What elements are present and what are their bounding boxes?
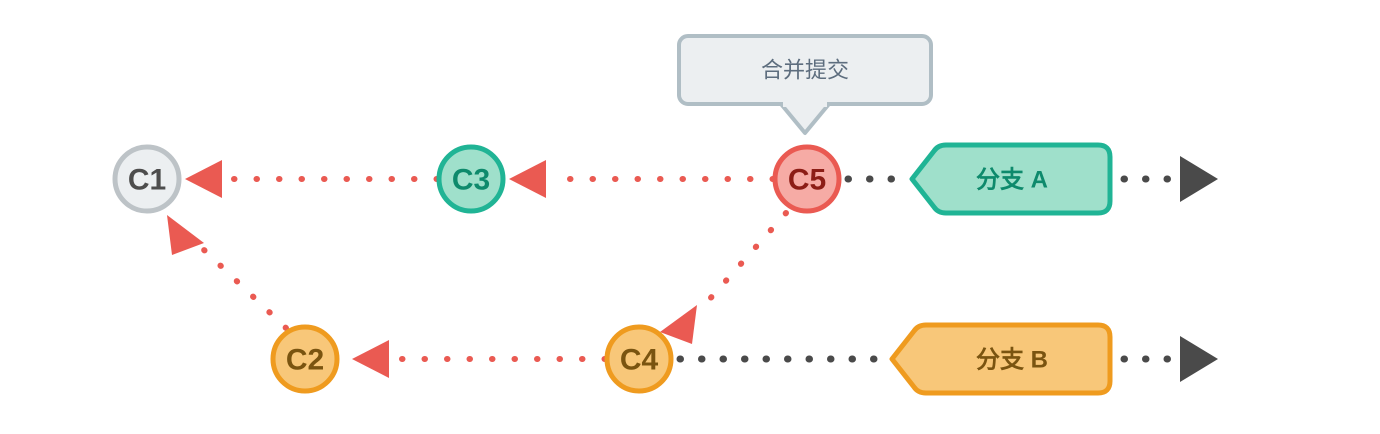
edge-c3-to-c1 — [185, 160, 437, 198]
commit-node-c2-label: C2 — [286, 344, 324, 377]
merge-commit-tooltip: 合并提交 — [679, 36, 931, 133]
branch-tag-a-label: 分支 A — [976, 167, 1048, 194]
commit-node-c3[interactable]: C3 — [439, 147, 503, 211]
head-arrow-a-icon — [1180, 156, 1218, 202]
branch-tag-b[interactable]: 分支 B — [892, 325, 1110, 393]
commit-node-c4-label: C4 — [620, 344, 659, 377]
edge-c2-to-c1-line — [202, 248, 286, 328]
edge-c2-to-c1 — [167, 215, 286, 328]
branch-tag-b-label: 分支 B — [976, 347, 1048, 374]
head-arrow-b-icon — [1180, 336, 1218, 382]
edge-c3-to-c1-arrowhead — [185, 160, 222, 198]
tooltip-tail-mask — [783, 98, 827, 107]
edge-c5-to-c4-line — [700, 213, 786, 310]
git-branch-diagram: 合并提交 分支 A 分支 B C1 C3 C5 C — [0, 0, 1380, 434]
commit-node-c2[interactable]: C2 — [273, 327, 337, 391]
tooltip-tail — [781, 104, 829, 133]
edge-c2-to-c1-arrowhead — [167, 215, 204, 255]
edge-c5-to-c4 — [660, 213, 786, 344]
edge-c4-to-c2 — [352, 340, 605, 378]
tooltip-text: 合并提交 — [761, 58, 849, 83]
commit-node-c1[interactable]: C1 — [115, 147, 179, 211]
commit-node-c3-label: C3 — [452, 164, 490, 197]
edge-c5-to-c3-arrowhead — [509, 160, 546, 198]
commit-node-c4[interactable]: C4 — [607, 327, 671, 391]
branch-tag-a[interactable]: 分支 A — [912, 145, 1110, 213]
commit-node-c1-label: C1 — [128, 164, 166, 197]
diagram-canvas: 合并提交 分支 A 分支 B C1 C3 C5 C — [0, 0, 1380, 434]
edge-c5-to-c3 — [509, 160, 773, 198]
commit-node-c5-label: C5 — [788, 164, 826, 197]
edge-c4-to-c2-arrowhead — [352, 340, 389, 378]
commit-node-c5[interactable]: C5 — [775, 147, 839, 211]
